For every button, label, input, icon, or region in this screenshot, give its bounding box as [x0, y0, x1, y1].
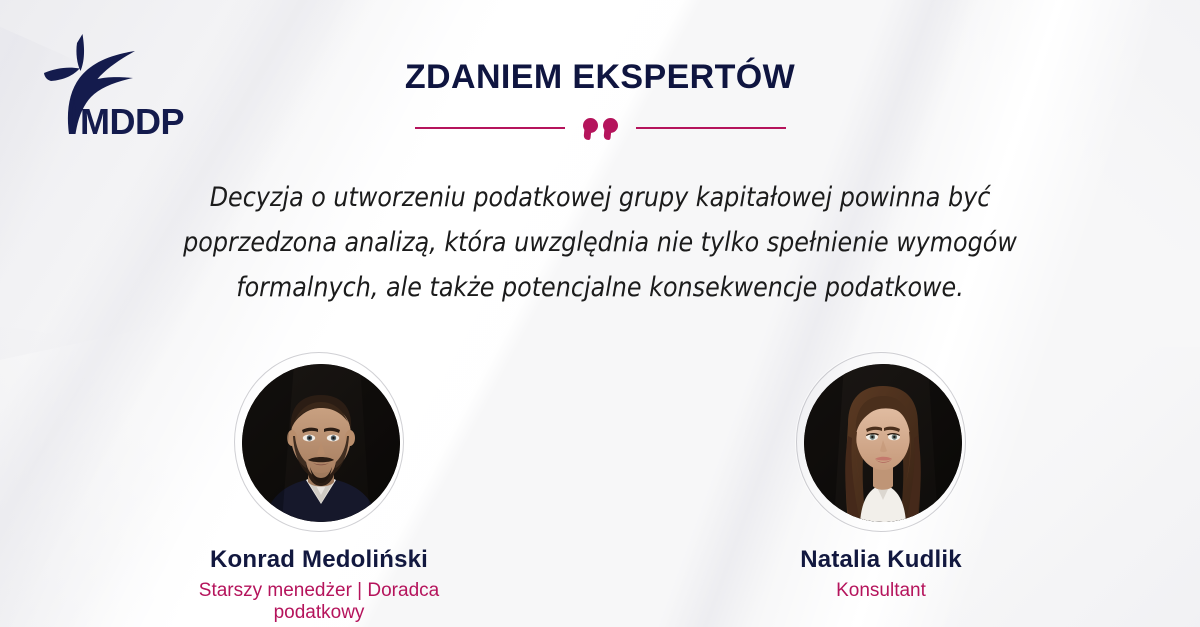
expert-card: Konrad Medoliński Starszy menedżer | Dor… [154, 352, 484, 624]
expert-name: Konrad Medoliński [154, 546, 484, 574]
quote-line-3: formalnych, ale także potencjalne konsek… [110, 265, 1090, 310]
expert-card: Natalia Kudlik Konsultant [716, 352, 1046, 624]
quotation-mark-icon [583, 118, 618, 133]
avatar-ring [796, 352, 966, 532]
expert-quote: Decyzja o utworzeniu podatkowej grupy ka… [110, 175, 1090, 310]
expert-role: Starszy menedżer | Doradca podatkowy [154, 580, 484, 624]
avatar[interactable] [234, 352, 404, 532]
avatar-ring [234, 352, 404, 532]
divider-rule-right [636, 127, 786, 129]
expert-role: Konsultant [716, 580, 1046, 602]
quote-line-1: Decyzja o utworzeniu podatkowej grupy ka… [110, 175, 1090, 220]
divider-rule-left [415, 127, 565, 129]
quote-line-2: poprzedzona analizą, która uwzględnia ni… [110, 220, 1090, 265]
avatar[interactable] [796, 352, 966, 532]
quote-divider [0, 122, 1200, 133]
expert-name: Natalia Kudlik [716, 546, 1046, 574]
page-title: ZDANIEM EKSPERTÓW [0, 58, 1200, 97]
experts-list: Konrad Medoliński Starszy menedżer | Dor… [0, 352, 1200, 624]
